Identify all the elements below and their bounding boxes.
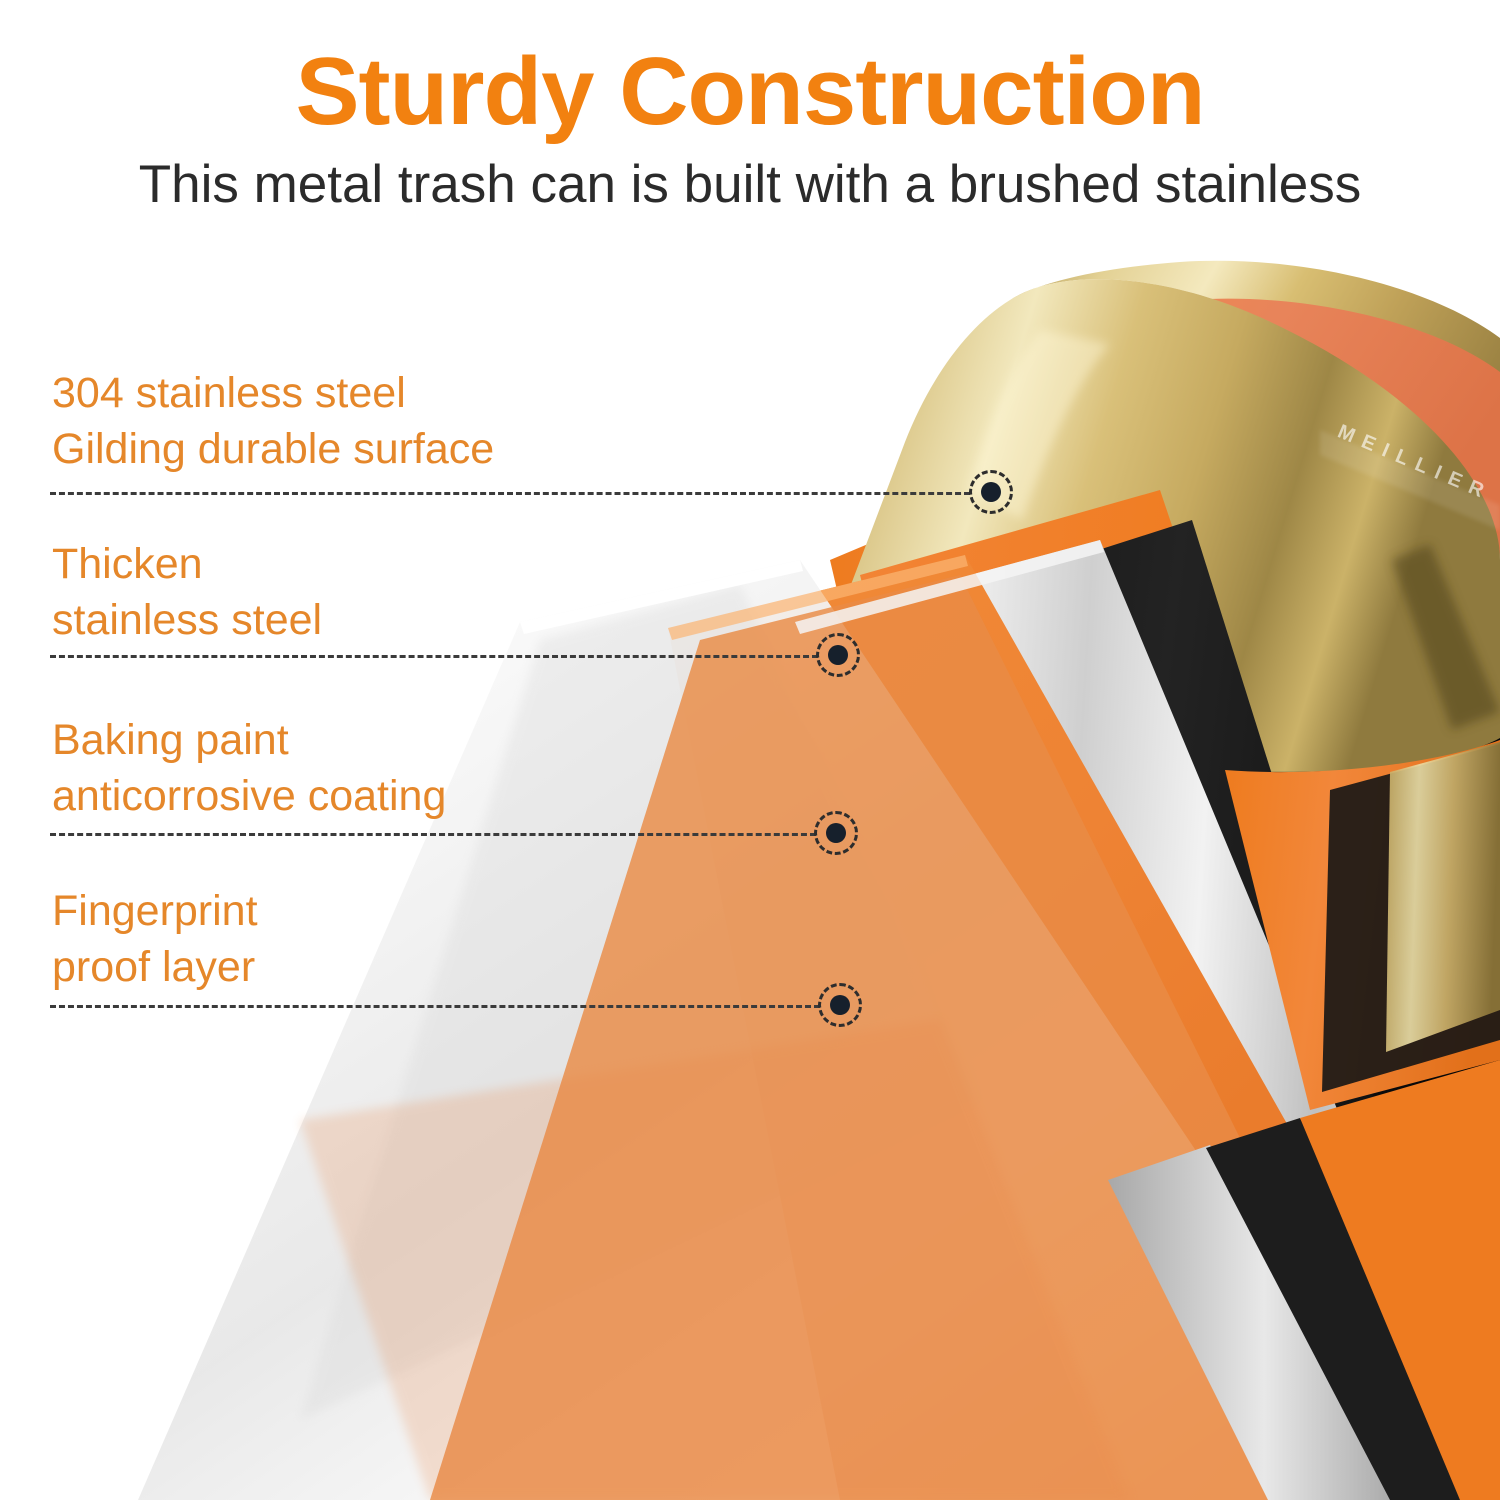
callout-label-thicken-stainless-steel: Thicken stainless steel [52,537,322,649]
callout-label-baking-paint: Baking paint anticorrosive coating [52,713,446,825]
leader-line-304-stainless-steel [50,492,970,495]
marker-dot-brushed-stainless-sheet [816,633,860,677]
lower-body-gold-reflection [1386,742,1500,1052]
leader-line-fingerprint-proof [50,1005,820,1008]
callout-label-fingerprint-proof: Fingerprint proof layer [52,884,258,996]
marker-dot-gold-gilded-lid [969,470,1013,514]
callout-label-304-stainless-steel: 304 stainless steel Gilding durable surf… [52,366,494,478]
leader-line-baking-paint [50,833,816,836]
marker-dot-orange-baked-paint-sheet [814,811,858,855]
leader-line-thicken-stainless-steel [50,655,818,658]
product-infographic: Sturdy Construction This metal trash can… [0,0,1500,1500]
marker-dot-fingerprint-proof-film [818,983,862,1027]
